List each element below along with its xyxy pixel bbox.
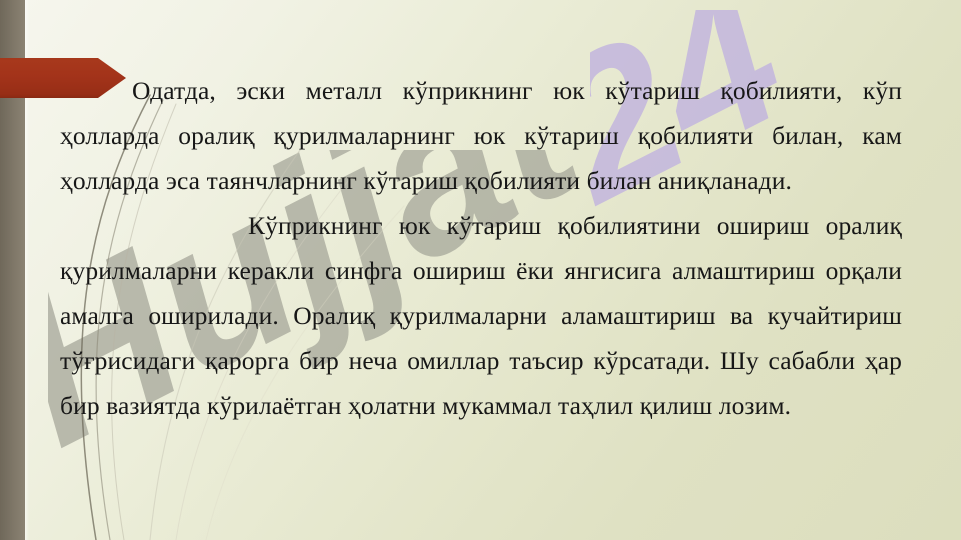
presentation-slide: Hujjat 24 Одатда, эски металл кўприкнинг…: [0, 0, 961, 540]
paragraph-1: Одатда, эски металл кўприкнинг юк кўтари…: [60, 68, 902, 203]
paragraph-2: Кўприкнинг юк кўтариш қобилиятини ошириш…: [60, 203, 902, 428]
slide-body-text: Одатда, эски металл кўприкнинг юк кўтари…: [60, 68, 902, 428]
